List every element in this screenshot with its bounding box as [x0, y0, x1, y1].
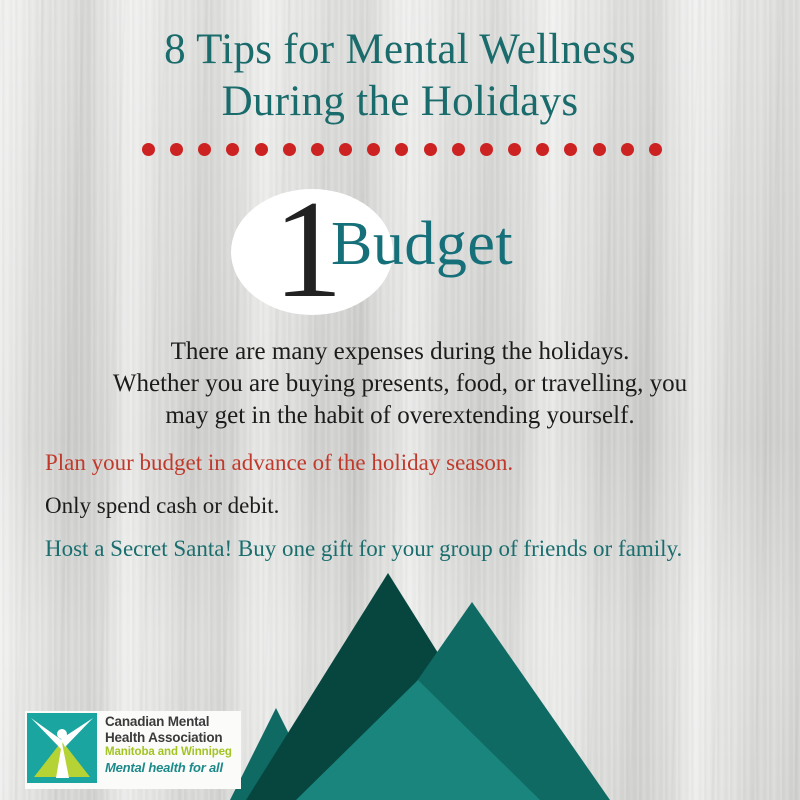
suggestion-item: Only spend cash or debit. — [45, 491, 715, 521]
divider-dot — [198, 143, 211, 156]
divider-dot — [142, 143, 155, 156]
tip-heading: Budget — [331, 213, 513, 275]
divider-dot — [255, 143, 268, 156]
divider-dot — [339, 143, 352, 156]
divider-dot — [564, 143, 577, 156]
dot-divider — [142, 143, 662, 156]
divider-dot — [311, 143, 324, 156]
cmha-logo-text: Canadian Mental Health Association Manit… — [99, 711, 236, 789]
divider-dot — [649, 143, 662, 156]
suggestion-list: Plan your budget in advance of the holid… — [45, 448, 715, 577]
divider-dot — [536, 143, 549, 156]
suggestion-item: Host a Secret Santa! Buy one gift for yo… — [45, 534, 715, 564]
cmha-logo: Canadian Mental Health Association Manit… — [25, 711, 241, 789]
divider-dot — [424, 143, 437, 156]
cmha-org-line-2: Health Association — [105, 730, 232, 746]
suggestion-item: Plan your budget in advance of the holid… — [45, 448, 715, 478]
body-line-2: Whether you are buying presents, food, o… — [60, 368, 740, 400]
poster-canvas: 8 Tips for Mental Wellness During the Ho… — [0, 0, 800, 800]
poster-title: 8 Tips for Mental Wellness During the Ho… — [0, 24, 800, 128]
divider-dot — [395, 143, 408, 156]
body-line-3: may get in the habit of overextending yo… — [60, 400, 740, 432]
divider-dot — [621, 143, 634, 156]
divider-dot — [367, 143, 380, 156]
cmha-region: Manitoba and Winnipeg — [105, 745, 232, 760]
divider-dot — [593, 143, 606, 156]
title-line-1: 8 Tips for Mental Wellness — [0, 24, 800, 76]
body-line-1: There are many expenses during the holid… — [60, 336, 740, 368]
divider-dot — [508, 143, 521, 156]
divider-dot — [480, 143, 493, 156]
title-line-2: During the Holidays — [0, 76, 800, 128]
cmha-org-line-1: Canadian Mental — [105, 714, 232, 730]
divider-dot — [226, 143, 239, 156]
divider-dot — [283, 143, 296, 156]
tip-body-paragraph: There are many expenses during the holid… — [60, 336, 740, 432]
cmha-tagline: Mental health for all — [105, 760, 232, 776]
cmha-logo-mark-icon — [25, 711, 99, 785]
divider-dot — [452, 143, 465, 156]
divider-dot — [170, 143, 183, 156]
